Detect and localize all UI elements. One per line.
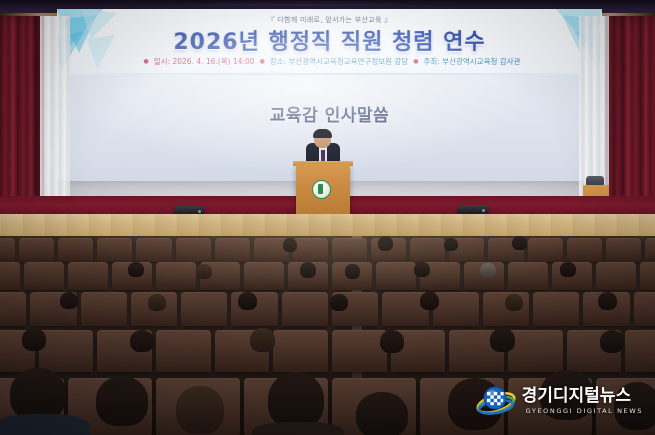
podium — [296, 164, 350, 216]
watermark: 경기디지털뉴스 GYEONGGI DIGITAL NEWS — [476, 381, 647, 421]
watermark-korean: 경기디지털뉴스 — [522, 388, 647, 405]
watermark-english-row: GYEONGGI DIGITAL NEWS — [522, 408, 647, 415]
watermark-english: GYEONGGI DIGITAL NEWS — [526, 408, 643, 415]
monitor-led-icon — [482, 209, 485, 212]
education-office-emblem-icon — [312, 180, 331, 199]
speaker-hair — [313, 129, 332, 138]
gyeonggi-digital-news-globe-logo-icon — [476, 381, 516, 421]
watermark-text: 경기디지털뉴스 GYEONGGI DIGITAL NEWS — [522, 388, 647, 415]
monitor-led-icon — [198, 210, 201, 213]
auditorium-photo: 『 다함께 미래로, 앞서가는 부산교육 』 2026년 행정직 직원 청렴 연… — [0, 0, 655, 435]
